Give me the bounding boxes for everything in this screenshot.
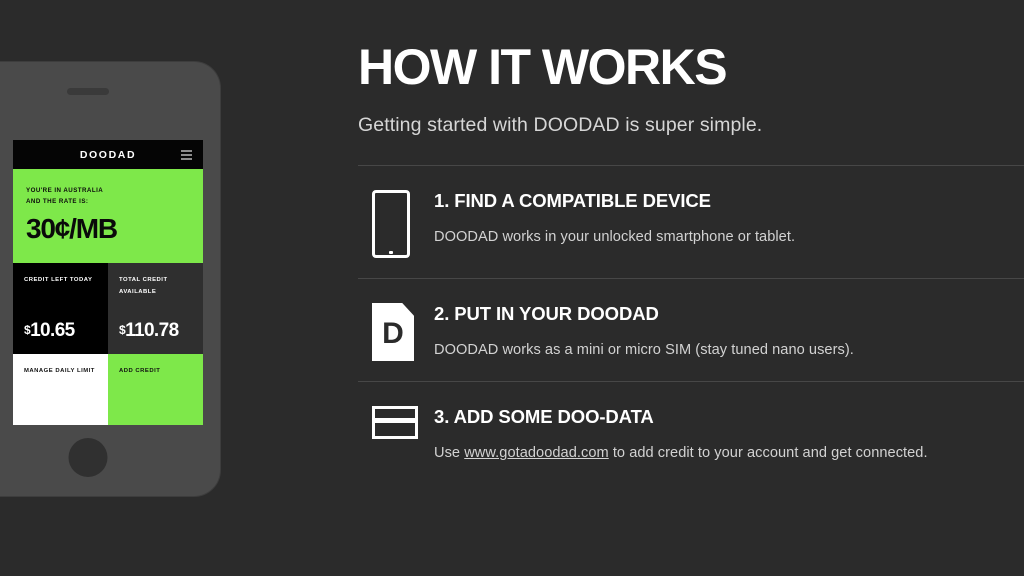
step-description: DOODAD works as a mini or micro SIM (sta… [434, 342, 854, 358]
doodad-website-link[interactable]: www.gotadoodad.com [464, 445, 609, 461]
tile-value: $10.65 [24, 320, 75, 342]
step-title: 3. ADD SOME DOO-DATA [434, 406, 928, 428]
tablet-icon [372, 190, 410, 258]
page-title: HOW IT WORKS [358, 42, 1024, 92]
desc-after: to add credit to your account and get co… [609, 445, 928, 461]
sim-card-icon: D [372, 303, 414, 361]
phone-speaker-grill [67, 88, 109, 95]
step-text: 3. ADD SOME DOO-DATA Use www.gotadoodad.… [434, 404, 928, 461]
amount: 10.65 [30, 320, 75, 341]
tile-label: TOTAL CREDIT AVAILABLE [119, 275, 192, 298]
desc-before: Use [434, 445, 464, 461]
step-text: 2. PUT IN YOUR DOODAD DOODAD works as a … [434, 301, 854, 358]
sim-card-letter: D [382, 319, 404, 349]
rate-location-line: YOU'RE IN AUSTRALIA [26, 185, 190, 196]
tile-label: MANAGE DAILY LIMIT [24, 366, 97, 378]
phone-home-button[interactable] [68, 438, 107, 477]
rate-value: 30¢/MB [26, 215, 190, 243]
tile-value: $110.78 [119, 320, 179, 342]
tile-label: CREDIT LEFT TODAY [24, 275, 97, 287]
how-it-works-section: HOW IT WORKS Getting started with DOODAD… [358, 0, 1024, 576]
phone-screen: DOODAD YOU'RE IN AUSTRALIA AND THE RATE … [13, 140, 203, 425]
rate-prefix-line: AND THE RATE IS: [26, 196, 190, 207]
tile-credit-left-today[interactable]: CREDIT LEFT TODAY $10.65 [13, 263, 108, 354]
step-title: 2. PUT IN YOUR DOODAD [434, 303, 854, 325]
step-item-2: D 2. PUT IN YOUR DOODAD DOODAD works as … [358, 279, 1024, 381]
phone-mockup: DOODAD YOU'RE IN AUSTRALIA AND THE RATE … [0, 62, 220, 496]
tile-total-credit-available[interactable]: TOTAL CREDIT AVAILABLE $110.78 [108, 263, 203, 354]
rate-panel: YOU'RE IN AUSTRALIA AND THE RATE IS: 30¢… [13, 169, 203, 263]
step-icon-wrap: D [372, 301, 434, 361]
step-text: 1. FIND A COMPATIBLE DEVICE DOODAD works… [434, 188, 795, 245]
step-title: 1. FIND A COMPATIBLE DEVICE [434, 190, 795, 212]
step-item-3: 3. ADD SOME DOO-DATA Use www.gotadoodad.… [358, 382, 1024, 481]
tile-grid: CREDIT LEFT TODAY $10.65 TOTAL CREDIT AV… [13, 263, 203, 425]
credit-card-icon [372, 406, 418, 439]
app-header: DOODAD [13, 140, 203, 169]
step-description: Use www.gotadoodad.com to add credit to … [434, 445, 928, 461]
app-brand-label: DOODAD [80, 149, 136, 161]
tile-label: ADD CREDIT [119, 366, 192, 378]
tile-manage-daily-limit[interactable]: MANAGE DAILY LIMIT [13, 354, 108, 425]
step-description: DOODAD works in your unlocked smartphone… [434, 229, 795, 245]
step-icon-wrap [372, 404, 434, 439]
tile-add-credit[interactable]: ADD CREDIT [108, 354, 203, 425]
steps-list: 1. FIND A COMPATIBLE DEVICE DOODAD works… [358, 165, 1024, 481]
step-item-1: 1. FIND A COMPATIBLE DEVICE DOODAD works… [358, 166, 1024, 278]
step-icon-wrap [372, 188, 434, 258]
page-subtitle: Getting started with DOODAD is super sim… [358, 114, 1024, 137]
hamburger-menu-icon[interactable] [181, 150, 192, 160]
amount: 110.78 [125, 320, 178, 341]
